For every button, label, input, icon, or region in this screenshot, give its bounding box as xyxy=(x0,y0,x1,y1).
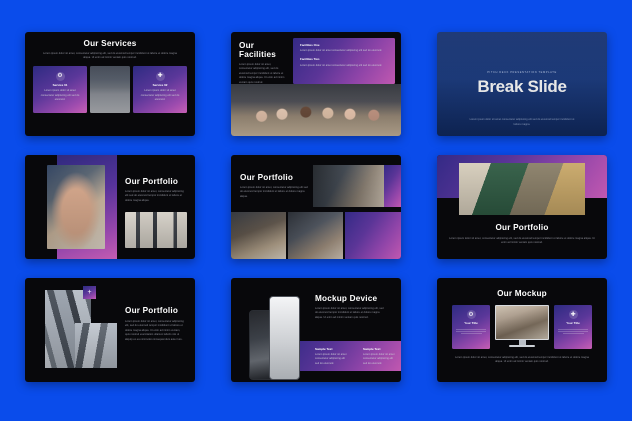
slide-our-mockup[interactable]: Our Mockup ⚙ Your Title ✚ Your Title Lor… xyxy=(437,278,607,382)
break-footer: Lorem ipsum dolor sit amet consectetur a… xyxy=(467,118,577,127)
service-card-2-label: Service 02 xyxy=(138,84,182,88)
page-title: Our Portfolio xyxy=(125,177,187,186)
slide-portfolio-band-left[interactable]: Our Portfolio Lorem ipsum dolor sit amet… xyxy=(25,155,195,259)
facilities-panel[interactable]: Facilities One Lorem ipsum dolor sit ame… xyxy=(293,38,395,84)
slide-break[interactable]: Pitch Deck Presentation Template Break S… xyxy=(437,32,607,136)
facility-item-1-text: Lorem ipsum dolor sit amet consectetur a… xyxy=(300,49,388,53)
page-title: Our Services xyxy=(35,39,185,48)
device-stat-1-label: Sample Text xyxy=(315,348,349,352)
device-stat-2: Sample Text Lorem ipsum dolor sit amet c… xyxy=(363,348,397,366)
monitor-screen xyxy=(495,305,549,340)
page-title: Our Facilities xyxy=(239,41,285,59)
slide-body-text: Lorem ipsum dolor sit amet, consectetur … xyxy=(41,52,179,61)
slide-body-text: Lorem ipsum dolor sit amet, consectetur … xyxy=(449,237,595,246)
gear-icon: ⚙ xyxy=(467,310,476,319)
slide-body-text: Lorem ipsum dolor sit amet, consectetur … xyxy=(239,63,285,85)
grid-photo-laptop xyxy=(313,165,391,207)
monitor-mockup xyxy=(495,305,549,347)
page-title: Our Portfolio xyxy=(125,306,185,315)
device-stat-2-text: Lorem ipsum dolor sit amet consectetur a… xyxy=(363,353,397,366)
slide-our-services[interactable]: Our Services Lorem ipsum dolor sit amet,… xyxy=(25,32,195,136)
plus-circle-icon: ✚ xyxy=(569,310,578,319)
slide-mockup-device[interactable]: Mockup Device Lorem ipsum dolor sit amet… xyxy=(231,278,401,382)
facility-item-1-label: Facilities One xyxy=(300,44,388,48)
banner-photo xyxy=(459,163,585,215)
service-card-1-label: Service 01 xyxy=(38,84,82,88)
mockup-card-2-label: Your Title xyxy=(558,322,588,326)
facilities-photo xyxy=(231,84,401,136)
device-stat-2-label: Sample Text xyxy=(363,348,397,352)
slide-body-text: Lorem ipsum dolor sit amet, consectetur … xyxy=(451,356,593,365)
facility-item-2-text: Lorem ipsum dolor sit amet consectetur a… xyxy=(300,64,388,68)
gear-icon: ⚙ xyxy=(56,72,65,81)
facility-item-2-label: Facilities Two xyxy=(300,58,388,62)
grid-gradient-tile xyxy=(345,212,401,259)
plus-icon[interactable]: + xyxy=(83,286,96,299)
page-title: Our Mockup xyxy=(437,289,607,298)
monitor-base xyxy=(509,345,535,347)
mockup-card-1[interactable]: ⚙ Your Title xyxy=(452,305,490,349)
grid-photo-room xyxy=(231,212,286,259)
portfolio-photo-hands xyxy=(47,165,105,249)
page-title: Our Portfolio xyxy=(240,173,308,182)
slide-grid-board: Our Services Lorem ipsum dolor sit amet,… xyxy=(0,0,632,421)
architecture-photo-2 xyxy=(75,323,117,368)
slide-body-text: Lorem ipsum dolor sit amet, consectetur … xyxy=(240,186,308,199)
grid-photo-team xyxy=(288,212,343,259)
slide-body-text: Lorem ipsum dolor sit amet, consectetur … xyxy=(125,320,185,342)
service-card-1-text: Lorem ipsum dolor sit amet consectetur a… xyxy=(38,89,82,102)
slide-portfolio-grid[interactable]: Our Portfolio Lorem ipsum dolor sit amet… xyxy=(231,155,401,259)
mockup-card-1-label: Your Title xyxy=(456,322,486,326)
service-card-1[interactable]: ⚙ Service 01 Lorem ipsum dolor sit amet … xyxy=(33,66,87,113)
slide-portfolio-banner[interactable]: Our Portfolio Lorem ipsum dolor sit amet… xyxy=(437,155,607,259)
services-photo xyxy=(90,66,130,113)
slide-our-facilities[interactable]: Our Facilities Lorem ipsum dolor sit ame… xyxy=(231,32,401,136)
page-title: Our Portfolio xyxy=(449,223,595,232)
service-card-2-text: Lorem ipsum dolor sit amet consectetur a… xyxy=(138,89,182,102)
break-eyebrow: Pitch Deck Presentation Template xyxy=(487,71,557,74)
portfolio-photo-desk xyxy=(125,212,187,248)
device-stat-1-text: Lorem ipsum dolor sit amet consectetur a… xyxy=(315,353,349,366)
service-card-2[interactable]: ✚ Service 02 Lorem ipsum dolor sit amet … xyxy=(133,66,187,113)
phone-mockup-ui xyxy=(269,296,300,380)
plus-circle-icon: ✚ xyxy=(156,72,165,81)
slide-body-text: Lorem ipsum dolor sit amet, consectetur … xyxy=(125,190,187,203)
break-title: Break Slide xyxy=(477,77,566,97)
slide-body-text: Lorem ipsum dolor sit amet, consectetur … xyxy=(315,307,387,320)
mockup-card-2[interactable]: ✚ Your Title xyxy=(554,305,592,349)
device-stat-1: Sample Text Lorem ipsum dolor sit amet c… xyxy=(315,348,349,366)
grid-gradient-edge xyxy=(384,165,401,207)
page-title: Mockup Device xyxy=(315,294,387,303)
slide-portfolio-architecture[interactable]: + Our Portfolio Lorem ipsum dolor sit am… xyxy=(25,278,195,382)
